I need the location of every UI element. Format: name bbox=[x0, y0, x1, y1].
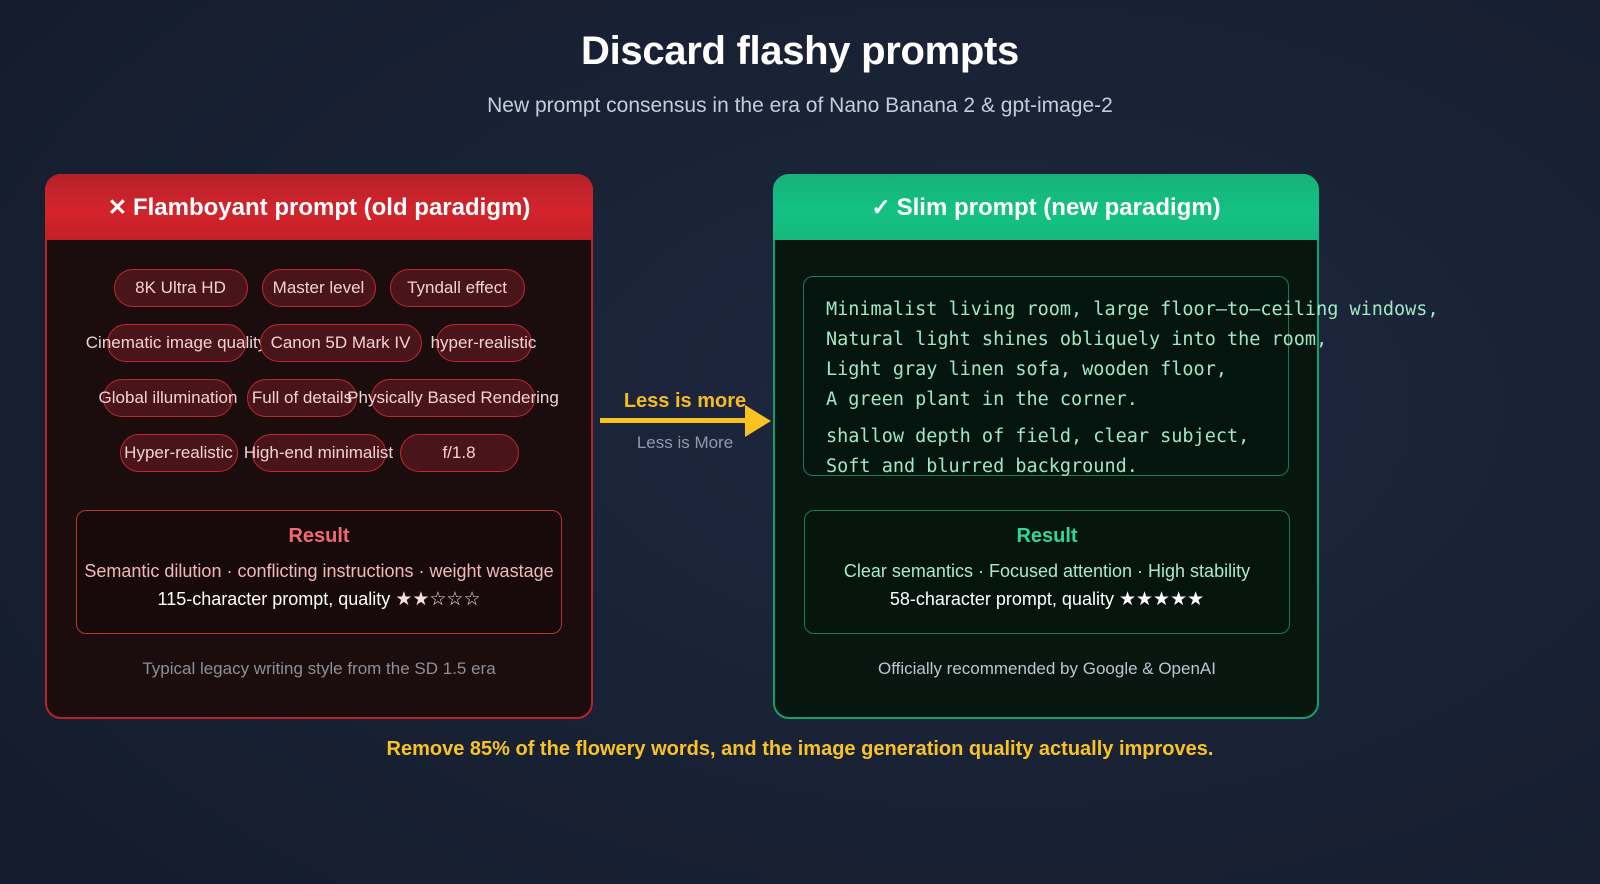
flamboyant-card-title: Flamboyant prompt (old paradigm) bbox=[133, 194, 530, 221]
arrow-label-secondary: Less is More bbox=[597, 433, 773, 453]
star-rating: ★★★★★ bbox=[1119, 589, 1204, 610]
result-title: Result bbox=[805, 525, 1289, 548]
prompt-tag[interactable]: Physically Based Rendering bbox=[371, 379, 535, 417]
flamboyant-result-box: Result Semantic dilution · conflicting i… bbox=[76, 510, 562, 634]
infographic-page: Discard flashy prompts New prompt consen… bbox=[0, 0, 1600, 884]
tag-row: Global illumination Full of details Phys… bbox=[47, 378, 591, 418]
prompt-tag[interactable]: hyper-realistic bbox=[436, 324, 532, 362]
flamboyant-tag-cloud: 8K Ultra HD Master level Tyndall effect … bbox=[47, 268, 591, 488]
tag-row: Hyper-realistic High-end minimalist f/1.… bbox=[47, 433, 591, 473]
star-rating: ★★☆☆☆ bbox=[395, 589, 480, 610]
slim-prompt-card: ✓Slim prompt (new paradigm) Minimalist l… bbox=[773, 174, 1319, 719]
result-summary: Clear semantics · Focused attention · Hi… bbox=[805, 557, 1289, 585]
check-icon: ✓ bbox=[871, 174, 890, 240]
prompt-tag[interactable]: f/1.8 bbox=[400, 434, 519, 472]
slim-card-title: Slim prompt (new paradigm) bbox=[897, 194, 1221, 221]
flamboyant-card-body: ✕Flamboyant prompt (old paradigm) 8K Ult… bbox=[45, 174, 593, 719]
tag-row: 8K Ultra HD Master level Tyndall effect bbox=[47, 268, 591, 308]
prompt-tag[interactable]: Cinematic image quality bbox=[107, 324, 246, 362]
result-summary: Semantic dilution · conflicting instruct… bbox=[77, 557, 561, 585]
slim-card-header: ✓Slim prompt (new paradigm) bbox=[773, 174, 1319, 240]
cross-icon: ✕ bbox=[108, 174, 127, 240]
code-line: shallow depth of field, clear subject, bbox=[826, 422, 1266, 452]
prompt-tag[interactable]: High-end minimalist bbox=[252, 434, 386, 472]
prompt-tag[interactable]: Master level bbox=[262, 269, 376, 307]
page-subtitle: New prompt consensus in the era of Nano … bbox=[0, 94, 1600, 118]
prompt-tag[interactable]: Hyper-realistic bbox=[120, 434, 238, 472]
prompt-tag[interactable]: Canon 5D Mark IV bbox=[260, 324, 422, 362]
transition-arrow: Less is more Less is More bbox=[597, 380, 773, 470]
result-quality: 58-character prompt, quality ★★★★★ bbox=[805, 585, 1289, 614]
code-line: A green plant in the corner. bbox=[826, 385, 1266, 415]
slim-footnote: Officially recommended by Google & OpenA… bbox=[775, 659, 1319, 679]
code-line: Natural light shines obliquely into the … bbox=[826, 325, 1266, 355]
slim-prompt-code-block[interactable]: Minimalist living room, large floor—to—c… bbox=[803, 276, 1289, 476]
code-line: Minimalist living room, large floor—to—c… bbox=[826, 295, 1266, 325]
arrow-shaft bbox=[600, 418, 748, 423]
result-quality: 115-character prompt, quality ★★☆☆☆ bbox=[77, 585, 561, 614]
code-line: Soft and blurred background. bbox=[826, 452, 1266, 482]
result-title: Result bbox=[77, 525, 561, 548]
bottom-banner: Remove 85% of the flowery words, and the… bbox=[0, 738, 1600, 761]
flamboyant-footnote: Typical legacy writing style from the SD… bbox=[47, 659, 591, 679]
slim-result-box: Result Clear semantics · Focused attenti… bbox=[804, 510, 1290, 634]
code-line: Light gray linen sofa, wooden floor, bbox=[826, 355, 1266, 385]
prompt-tag[interactable]: Full of details bbox=[247, 379, 357, 417]
prompt-tag[interactable]: Global illumination bbox=[103, 379, 233, 417]
page-header: Discard flashy prompts New prompt consen… bbox=[0, 0, 1600, 118]
flamboyant-prompt-card: ✕Flamboyant prompt (old paradigm) 8K Ult… bbox=[45, 174, 593, 719]
prompt-tag[interactable]: 8K Ultra HD bbox=[114, 269, 248, 307]
page-title: Discard flashy prompts bbox=[0, 28, 1600, 74]
slim-card-body: ✓Slim prompt (new paradigm) Minimalist l… bbox=[773, 174, 1319, 719]
tag-row: Cinematic image quality Canon 5D Mark IV… bbox=[47, 323, 591, 363]
prompt-tag[interactable]: Tyndall effect bbox=[390, 269, 525, 307]
flamboyant-card-header: ✕Flamboyant prompt (old paradigm) bbox=[45, 174, 593, 240]
